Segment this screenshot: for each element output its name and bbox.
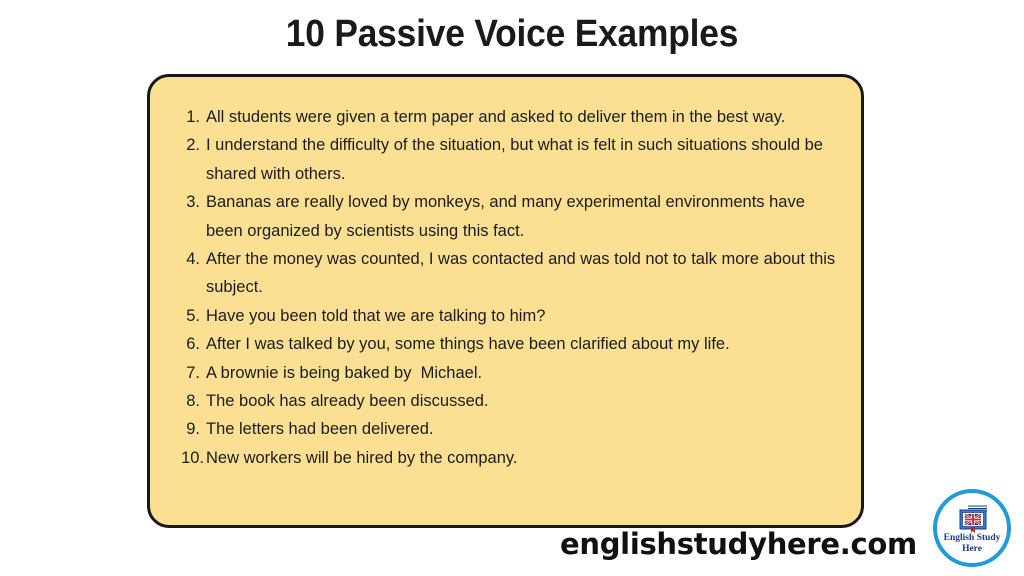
list-item: 2.I understand the difficulty of the sit… <box>172 131 841 188</box>
list-item-text: After the money was counted, I was conta… <box>206 245 841 302</box>
list-item-number: 1. <box>172 103 206 131</box>
list-item-text: Bananas are really loved by monkeys, and… <box>206 188 841 245</box>
list-item-text: I understand the difficulty of the situa… <box>206 131 841 188</box>
list-item: 1.All students were given a term paper a… <box>172 103 841 131</box>
list-item-text: The book has already been discussed. <box>206 387 841 415</box>
list-item-number: 6. <box>172 330 206 358</box>
list-item: 8.The book has already been discussed. <box>172 387 841 415</box>
logo-text-line2: Here <box>937 544 1007 555</box>
list-item: 3.Bananas are really loved by monkeys, a… <box>172 188 841 245</box>
list-item-text: Have you been told that we are talking t… <box>206 302 841 330</box>
list-item-number: 3. <box>172 188 206 216</box>
list-item: 7.A brownie is being baked by Michael. <box>172 359 841 387</box>
examples-panel: 1.All students were given a term paper a… <box>147 74 864 528</box>
list-item-text: After I was talked by you, some things h… <box>206 330 841 358</box>
list-item-number: 8. <box>172 387 206 415</box>
book-with-uk-flag-icon <box>954 502 992 533</box>
list-item-number: 4. <box>172 245 206 273</box>
examples-list: 1.All students were given a term paper a… <box>172 103 841 472</box>
english-study-here-logo[interactable]: English Study Here <box>933 489 1011 567</box>
list-item-number: 10. <box>172 444 206 472</box>
list-item-text: The letters had been delivered. <box>206 415 841 443</box>
list-item-text: All students were given a term paper and… <box>206 103 841 131</box>
logo-text-line1: English Study <box>937 533 1007 544</box>
list-item-number: 2. <box>172 131 206 159</box>
list-item: 4.After the money was counted, I was con… <box>172 245 841 302</box>
slide-canvas: 10 Passive Voice Examples 1.All students… <box>0 0 1024 576</box>
logo-inner: English Study Here <box>937 493 1007 563</box>
list-item-number: 5. <box>172 302 206 330</box>
logo-text: English Study Here <box>937 533 1007 555</box>
site-name-footer: englishstudyhere.com <box>560 527 900 561</box>
list-item: 10.New workers will be hired by the comp… <box>172 444 841 472</box>
list-item: 6.After I was talked by you, some things… <box>172 330 841 358</box>
list-item-text: A brownie is being baked by Michael. <box>206 359 841 387</box>
list-item: 9.The letters had been delivered. <box>172 415 841 443</box>
list-item-text: New workers will be hired by the company… <box>206 444 841 472</box>
page-title: 10 Passive Voice Examples <box>36 13 988 56</box>
list-item-number: 7. <box>172 359 206 387</box>
list-item-number: 9. <box>172 415 206 443</box>
list-item: 5.Have you been told that we are talking… <box>172 302 841 330</box>
